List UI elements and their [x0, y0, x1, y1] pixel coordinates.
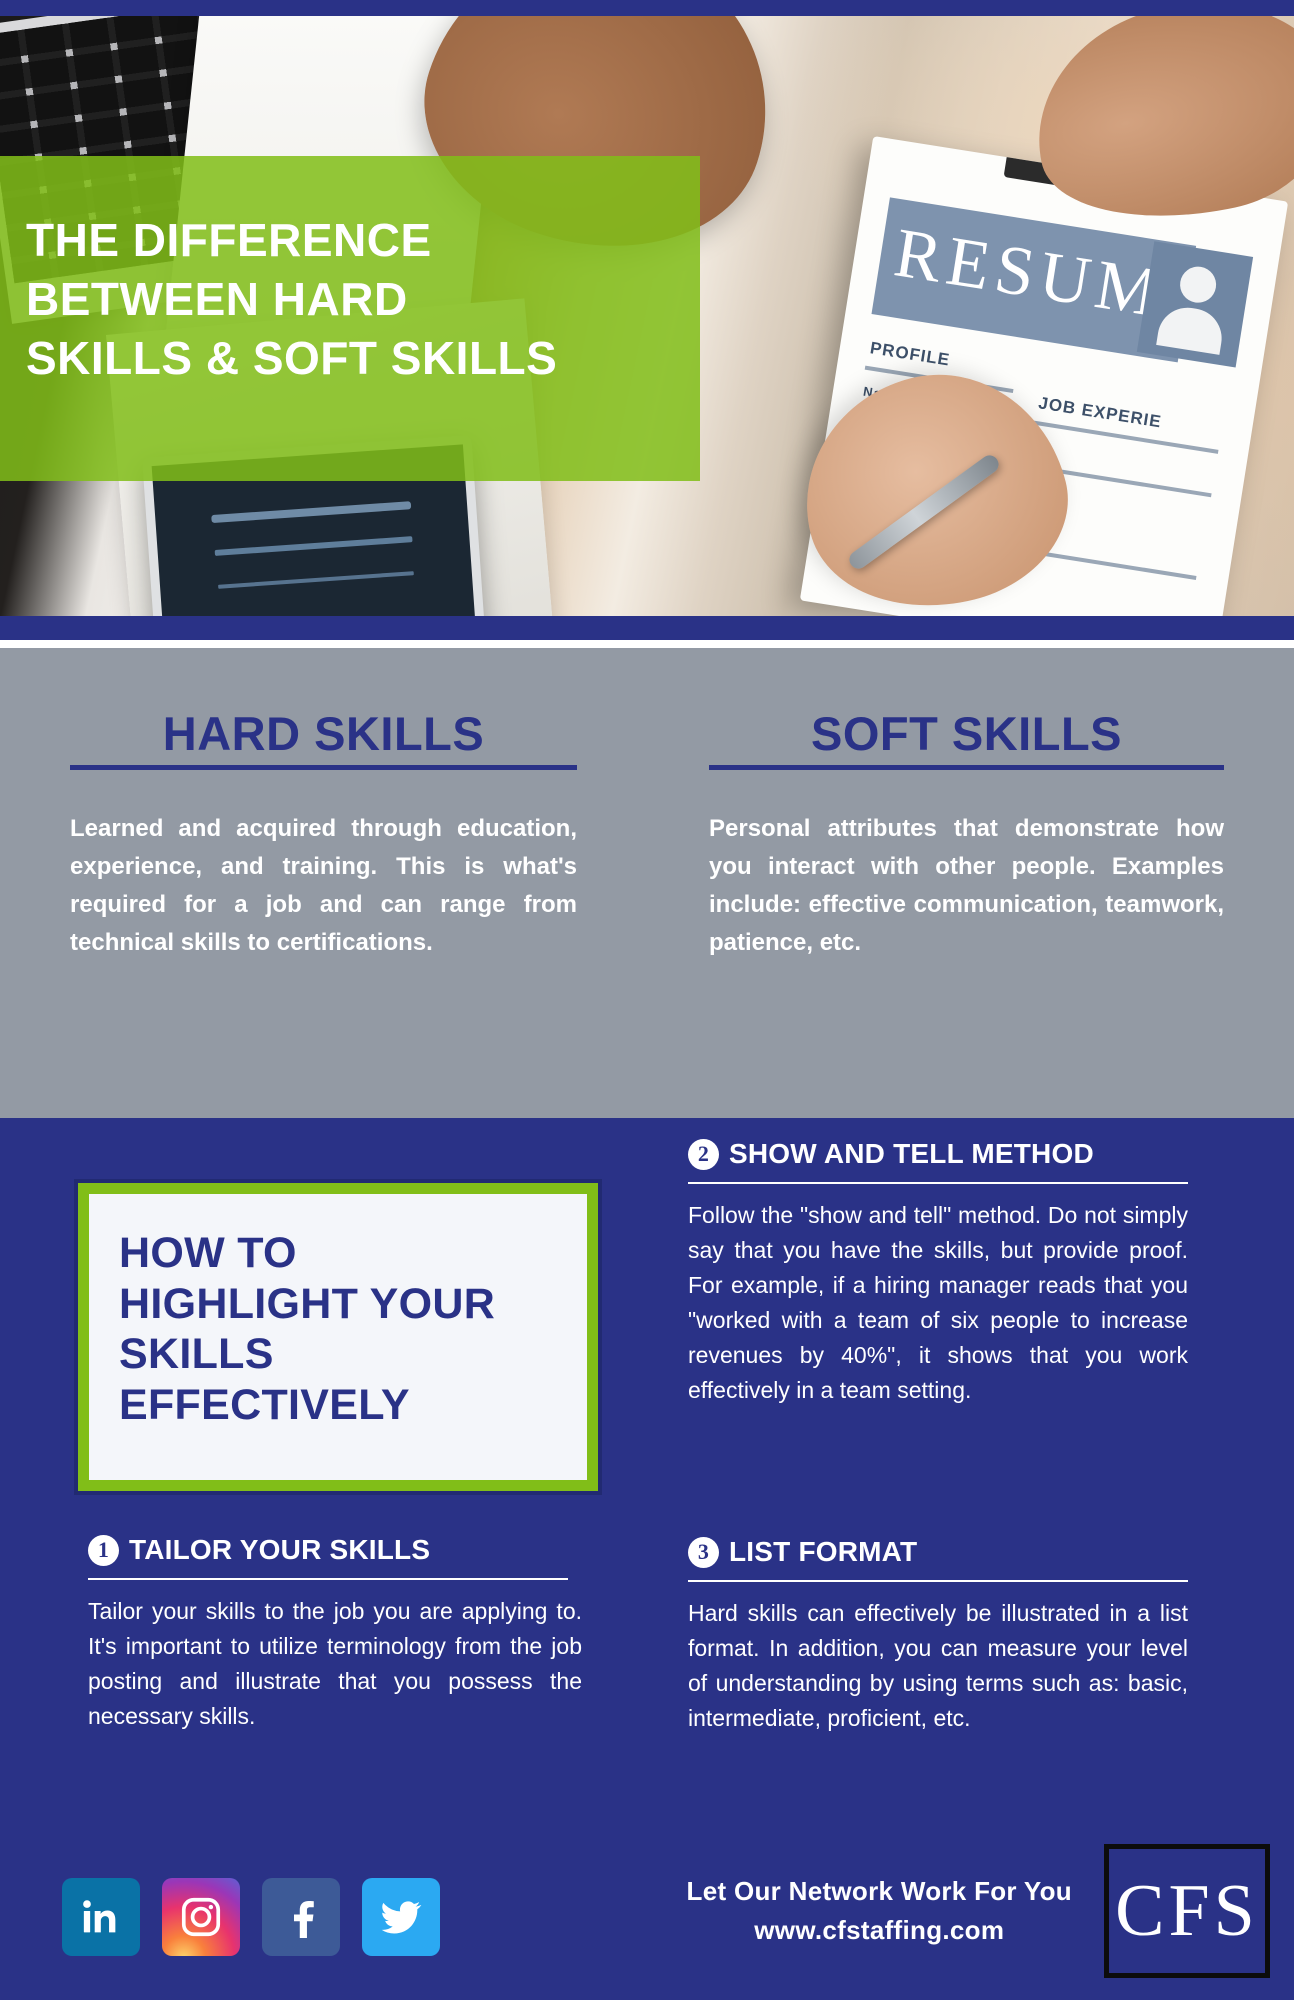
soft-skills-column: SOFT SKILLS Personal attributes that dem…: [647, 648, 1294, 1118]
tip-block-2: 2 SHOW AND TELL METHOD Follow the "show …: [688, 1138, 1188, 1408]
infographic-poster: RESUME PROFILE Name Address Phone JOB EX…: [0, 0, 1294, 2000]
footer-tagline: Let Our Network Work For You: [687, 1872, 1072, 1911]
top-accent-bar: [0, 0, 1294, 16]
tip-block-1: 1 TAILOR YOUR SKILLS Tailor your skills …: [88, 1534, 582, 1734]
facebook-icon[interactable]: [262, 1878, 340, 1956]
soft-skills-heading: SOFT SKILLS: [709, 706, 1224, 770]
tip-3-body: Hard skills can effectively be illustrat…: [688, 1596, 1188, 1736]
footer-tagline-block: Let Our Network Work For You www.cfstaff…: [687, 1872, 1072, 1950]
page-title: THE DIFFERENCE BETWEEN HARD SKILLS & SOF…: [26, 211, 686, 388]
social-links: [62, 1878, 440, 1956]
hard-skills-heading-wrap: HARD SKILLS: [70, 706, 577, 810]
footer-website[interactable]: www.cfstaffing.com: [687, 1911, 1072, 1950]
tip-3-heading: LIST FORMAT: [729, 1536, 917, 1568]
hero-bottom-navy-divider: [0, 616, 1294, 640]
highlight-title-line-3: SKILLS: [119, 1329, 557, 1380]
skills-comparison-section: HARD SKILLS Learned and acquired through…: [0, 648, 1294, 1118]
highlight-callout-title: HOW TO HIGHLIGHT YOUR SKILLS EFFECTIVELY: [119, 1228, 557, 1431]
tip-3-rule: [688, 1580, 1188, 1582]
resume-profile-label: PROFILE: [869, 338, 952, 370]
tip-2-heading-row: 2 SHOW AND TELL METHOD: [688, 1138, 1188, 1170]
tip-1-rule: [88, 1578, 568, 1580]
tip-block-3: 3 LIST FORMAT Hard skills can effectivel…: [688, 1536, 1188, 1736]
tip-2-number-badge: 2: [688, 1139, 719, 1170]
linkedin-icon[interactable]: [62, 1878, 140, 1956]
tip-1-heading-row: 1 TAILOR YOUR SKILLS: [88, 1534, 582, 1566]
page-title-line-2: BETWEEN HARD: [26, 270, 686, 329]
tip-1-number-badge: 1: [88, 1535, 119, 1566]
highlight-callout-inner: HOW TO HIGHLIGHT YOUR SKILLS EFFECTIVELY: [89, 1194, 587, 1480]
tip-1-body: Tailor your skills to the job you are ap…: [88, 1594, 582, 1734]
tip-2-body: Follow the "show and tell" method. Do no…: [688, 1198, 1188, 1408]
tip-2-heading: SHOW AND TELL METHOD: [729, 1138, 1094, 1170]
hard-skills-body: Learned and acquired through education, …: [70, 810, 577, 962]
tip-2-rule: [688, 1182, 1188, 1184]
tips-section: HOW TO HIGHLIGHT YOUR SKILLS EFFECTIVELY…: [0, 1118, 1294, 2000]
highlight-title-line-2: HIGHLIGHT YOUR: [119, 1279, 557, 1330]
cfs-logo: CFS: [1104, 1844, 1270, 1978]
hero-image: RESUME PROFILE Name Address Phone JOB EX…: [0, 16, 1294, 616]
hero-bottom-white-divider: [0, 640, 1294, 648]
hard-skills-heading: HARD SKILLS: [70, 706, 577, 770]
page-title-line-1: THE DIFFERENCE: [26, 211, 686, 270]
cfs-logo-text: CFS: [1115, 1874, 1259, 1948]
instagram-icon[interactable]: [162, 1878, 240, 1956]
page-title-line-3: SKILLS & SOFT SKILLS: [26, 329, 686, 388]
twitter-icon[interactable]: [362, 1878, 440, 1956]
tip-1-heading: TAILOR YOUR SKILLS: [129, 1534, 430, 1566]
soft-skills-body: Personal attributes that demonstrate how…: [709, 810, 1224, 962]
tip-3-number-badge: 3: [688, 1537, 719, 1568]
resume-avatar: [1137, 241, 1253, 367]
highlight-title-line-1: HOW TO: [119, 1228, 557, 1279]
highlight-title-line-4: EFFECTIVELY: [119, 1380, 557, 1431]
tip-3-heading-row: 3 LIST FORMAT: [688, 1536, 1188, 1568]
highlight-callout-box: HOW TO HIGHLIGHT YOUR SKILLS EFFECTIVELY: [78, 1183, 598, 1491]
soft-skills-heading-wrap: SOFT SKILLS: [709, 706, 1224, 810]
hard-skills-column: HARD SKILLS Learned and acquired through…: [0, 648, 647, 1118]
